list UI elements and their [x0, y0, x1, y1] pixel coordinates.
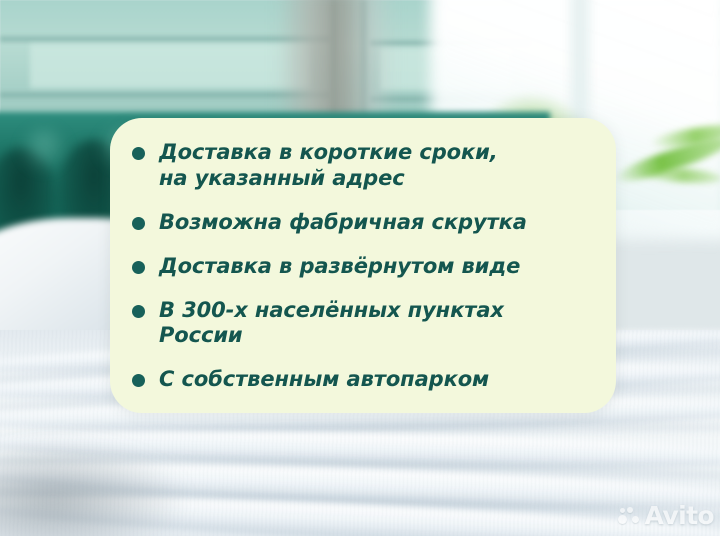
headboard-tuft-highlight — [20, 128, 68, 172]
bullet-dot-icon — [132, 217, 145, 230]
list-item-label: Возможна фабричная скрутка — [159, 210, 527, 236]
features-list: Доставка в короткие сроки, на указанный … — [110, 118, 616, 413]
bullet-dot-icon — [132, 261, 145, 274]
bullet-dot-icon — [132, 374, 145, 387]
logo-dot — [632, 516, 639, 523]
avito-wordmark: Avito — [645, 503, 714, 528]
bullet-dot-icon — [132, 147, 145, 160]
bullet-dot-icon — [132, 305, 145, 318]
list-item-label: С собственным автопарком — [159, 367, 489, 393]
list-item-label: Доставка в короткие сроки, на указанный … — [159, 140, 498, 191]
features-card: Доставка в короткие сроки, на указанный … — [110, 118, 616, 413]
wall-panel-highlight — [30, 44, 310, 88]
logo-dot — [627, 507, 633, 513]
list-item-label: В 300-х населённых пунктах России — [159, 298, 590, 349]
avito-dots-logo-icon — [618, 505, 640, 527]
promo-image: Доставка в короткие сроки, на указанный … — [0, 0, 720, 536]
logo-dot — [618, 515, 627, 524]
list-item: В 300-х населённых пунктах России — [132, 298, 590, 349]
avito-watermark: Avito — [618, 503, 714, 528]
list-item: С собственным автопарком — [132, 367, 590, 393]
list-item: Доставка в короткие сроки, на указанный … — [132, 140, 590, 191]
list-item-label: Доставка в развёрнутом виде — [159, 254, 520, 280]
logo-dot — [620, 508, 625, 513]
list-item: Возможна фабричная скрутка — [132, 210, 590, 236]
list-item: Доставка в развёрнутом виде — [132, 254, 590, 280]
